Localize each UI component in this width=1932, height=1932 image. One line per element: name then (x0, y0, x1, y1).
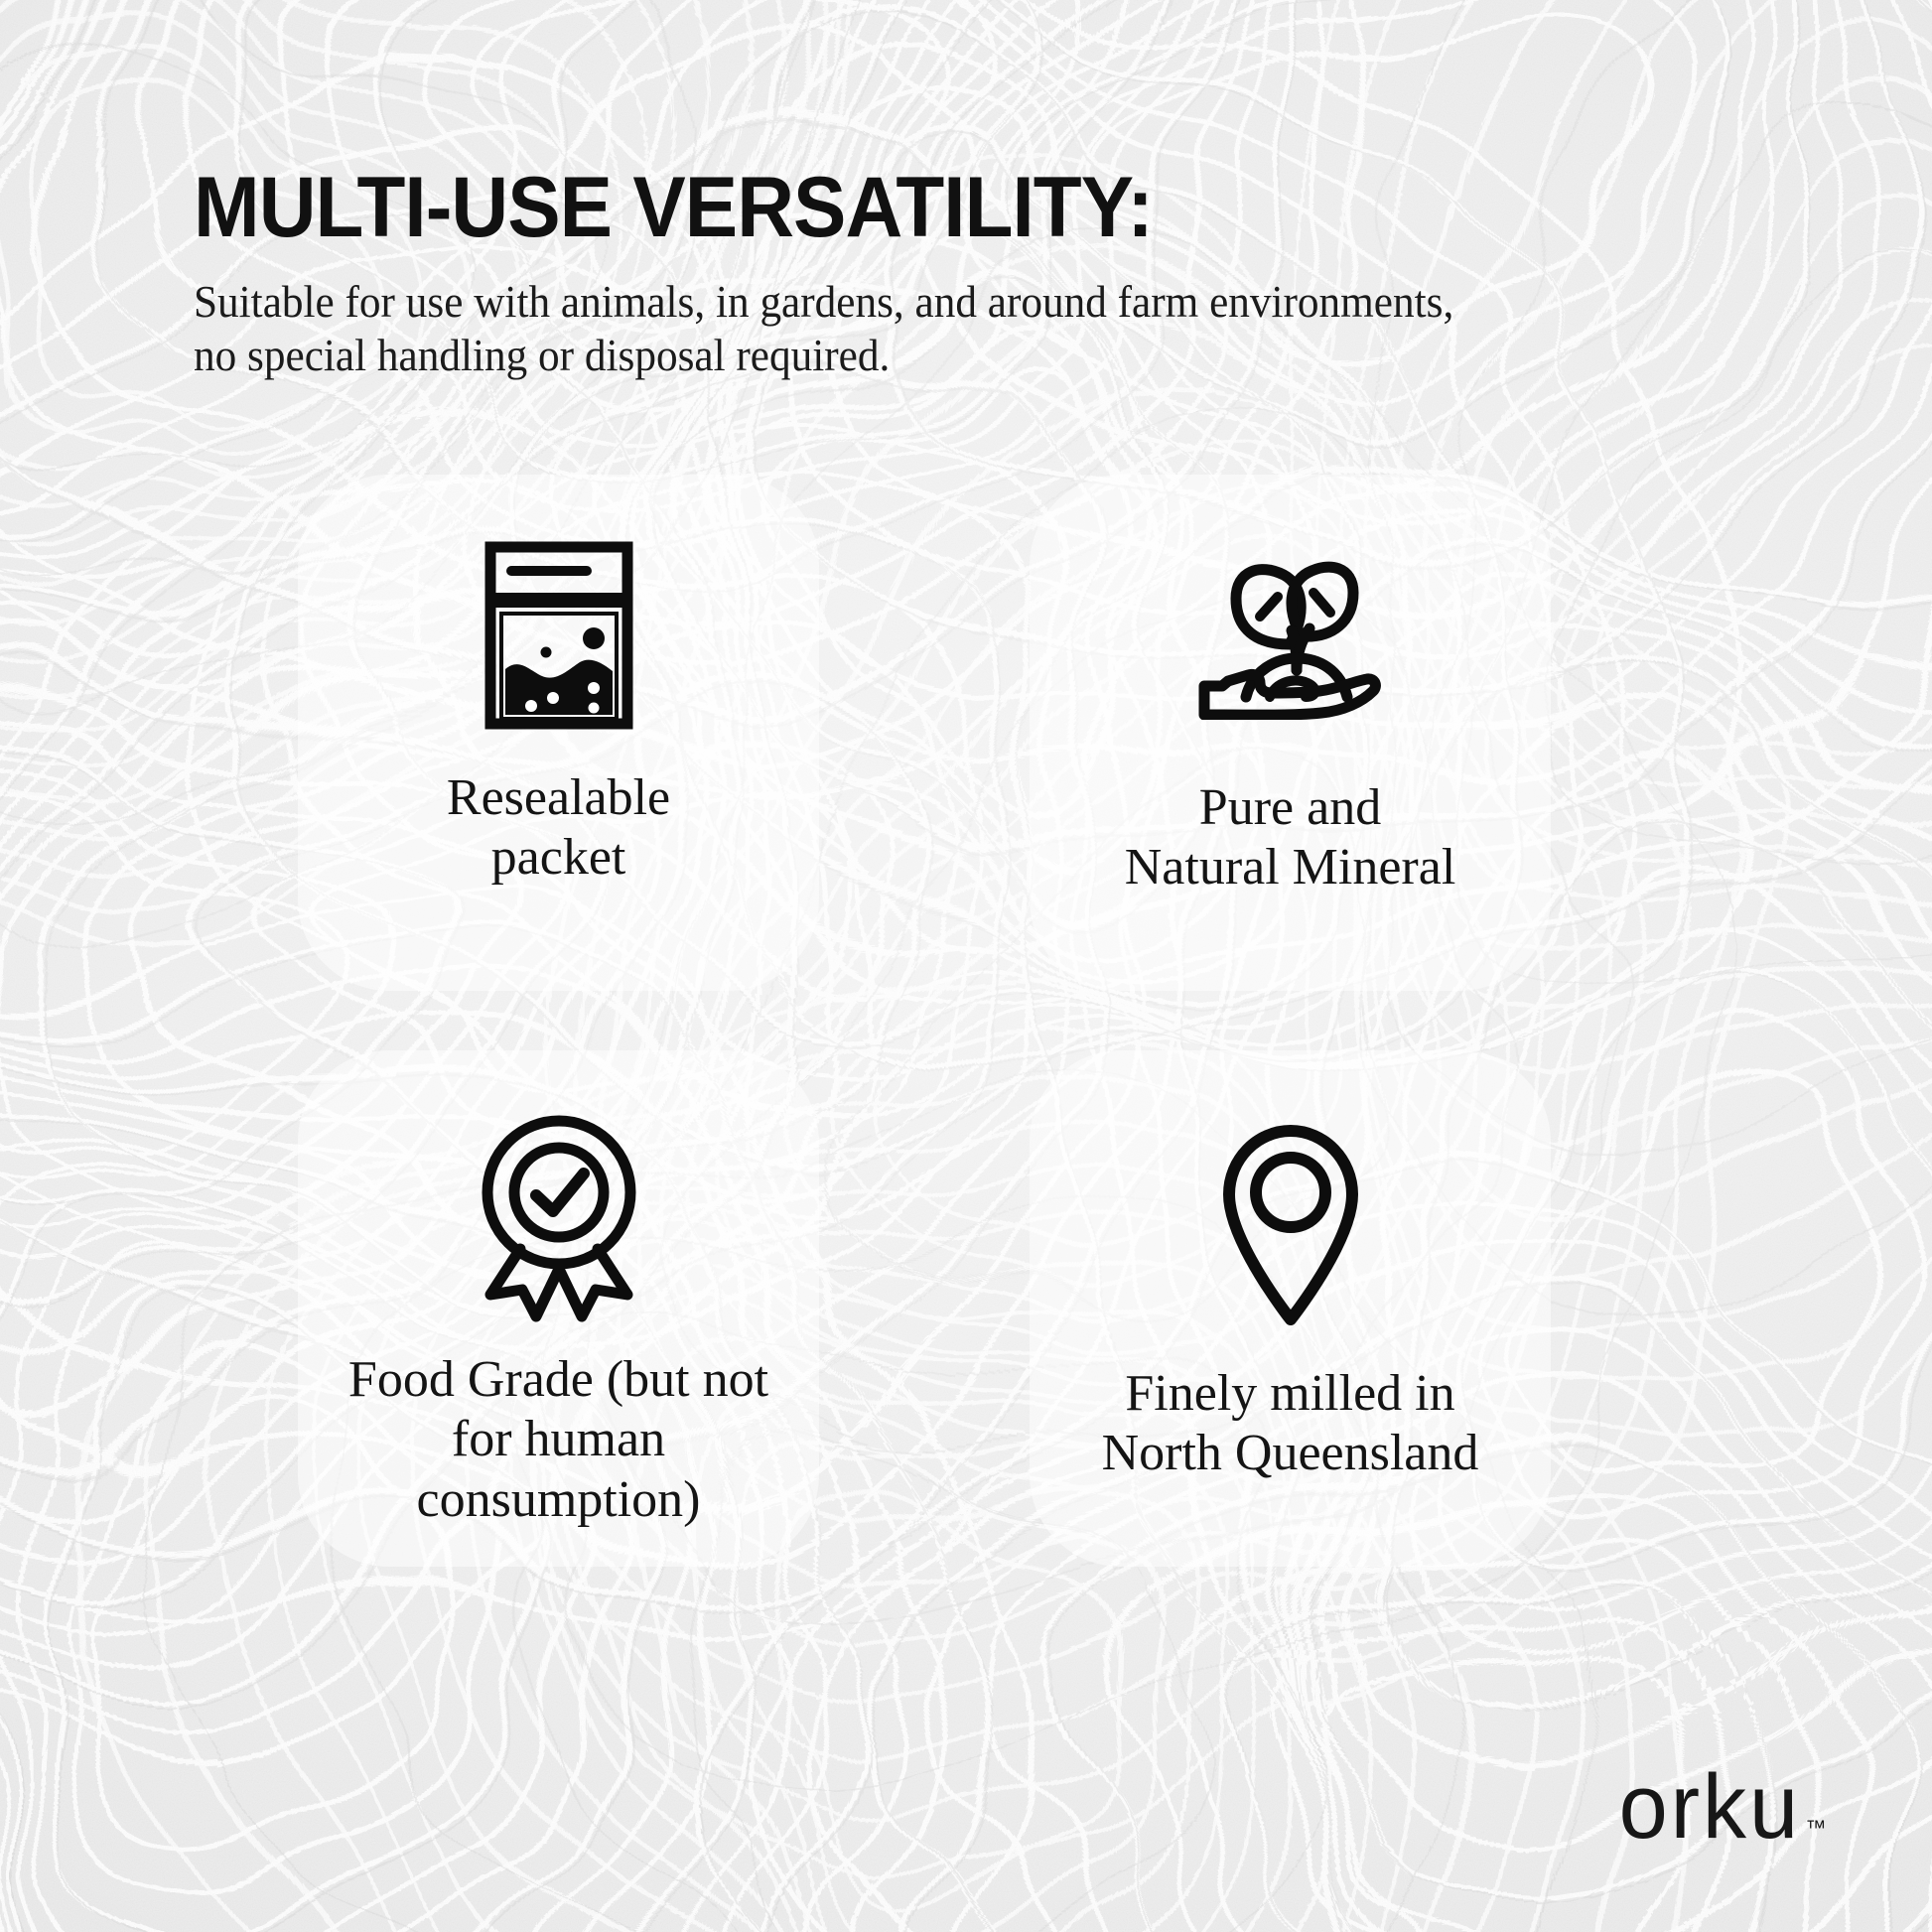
header-block: MULTI-USE VERSATILITY: Suitable for use … (194, 167, 1782, 382)
feature-card-resealable-packet[interactable]: Resealable packet (298, 475, 819, 991)
feature-label-line-3: consumption) (308, 1470, 809, 1530)
feature-card-label: Food Grade (but not for human consumptio… (298, 1350, 819, 1530)
feature-label-line-1: Finely milled in (1039, 1364, 1541, 1424)
page-subtitle-line-2: no special handling or disposal required… (194, 329, 1687, 382)
feature-label-line-1: Pure and (1039, 778, 1541, 838)
feature-label-line-1: Resealable (308, 768, 809, 828)
sprout-in-hand-icon (1196, 536, 1385, 735)
feature-card-label: Pure and Natural Mineral (1030, 778, 1551, 898)
feature-card-grid: Resealable packet (298, 475, 1648, 1626)
resealable-bag-icon (465, 536, 653, 735)
feature-label-line-2: North Queensland (1039, 1424, 1541, 1483)
brand-logo: orku ™ (1611, 1766, 1827, 1849)
trademark-symbol: ™ (1806, 1817, 1828, 1841)
feature-card-pure-natural-mineral[interactable]: Pure and Natural Mineral (1030, 475, 1551, 991)
page-subtitle-line-1: Suitable for use with animals, in garden… (194, 275, 1687, 329)
page-subtitle: Suitable for use with animals, in garden… (194, 275, 1687, 383)
feature-card-food-grade[interactable]: Food Grade (but not for human consumptio… (298, 1050, 819, 1567)
page-root: MULTI-USE VERSATILITY: Suitable for use … (0, 0, 1932, 1932)
feature-card-north-queensland[interactable]: Finely milled in North Queensland (1030, 1050, 1551, 1567)
feature-label-line-2: for human (308, 1410, 809, 1469)
feature-card-label: Finely milled in North Queensland (1030, 1364, 1551, 1484)
feature-card-label: Resealable packet (298, 768, 819, 889)
award-rosette-check-icon (452, 1098, 665, 1336)
map-pin-icon (1191, 1096, 1390, 1344)
feature-label-line-1: Food Grade (but not (308, 1350, 809, 1410)
page-title: MULTI-USE VERSATILITY: (194, 167, 1671, 249)
feature-label-line-2: packet (308, 828, 809, 888)
brand-wordmark: orku (1618, 1766, 1800, 1849)
feature-label-line-2: Natural Mineral (1039, 838, 1541, 897)
